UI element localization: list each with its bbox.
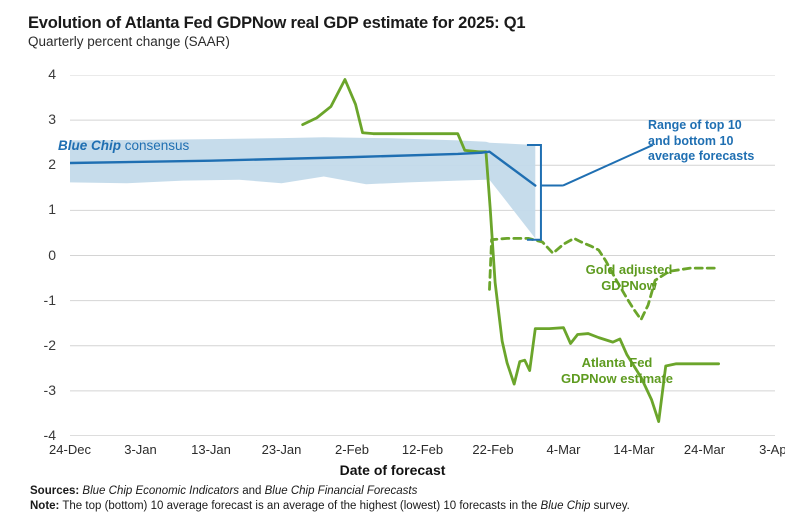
- note-line: Note: The top (bottom) 10 average foreca…: [30, 499, 770, 514]
- chart-page: Evolution of Atlanta Fed GDPNow real GDP…: [0, 0, 785, 531]
- x-axis-tick-label: 4-Mar: [547, 442, 581, 457]
- sources-pub-2: Blue Chip Financial Forecasts: [265, 485, 418, 497]
- bluechip-italic: Blue Chip: [58, 138, 121, 153]
- bluechip-rest: consensus: [121, 138, 189, 153]
- y-axis-tick-label: 2: [30, 156, 56, 172]
- y-axis-tick-label: 3: [30, 111, 56, 127]
- x-axis-tick-label: 24-Mar: [684, 442, 725, 457]
- sources-label: Sources:: [30, 485, 79, 497]
- footnotes: Sources: Blue Chip Economic Indicators a…: [30, 484, 770, 513]
- x-axis-tick-label: 2-Feb: [335, 442, 369, 457]
- y-axis-tick-label: 1: [30, 201, 56, 217]
- x-axis-tick-label: 13-Jan: [191, 442, 231, 457]
- range-callout-label: Range of top 10 and bottom 10 average fo…: [648, 118, 780, 165]
- y-axis-tick-label: -3: [30, 382, 56, 398]
- x-axis-tick-label: 22-Feb: [472, 442, 513, 457]
- x-axis-tick-label: 3-Apr: [759, 442, 785, 457]
- note-label: Note:: [30, 500, 59, 512]
- note-text-2: survey.: [590, 500, 629, 512]
- sources-mid: and: [239, 485, 265, 497]
- gold-adjusted-label: Gold adjusted GDPNow: [549, 262, 709, 294]
- page-title: Evolution of Atlanta Fed GDPNow real GDP…: [28, 14, 525, 33]
- y-axis-tick-label: -2: [30, 337, 56, 353]
- x-axis-tick-label: 23-Jan: [262, 442, 302, 457]
- x-axis-tick-label: 12-Feb: [402, 442, 443, 457]
- chart-subtitle: Quarterly percent change (SAAR): [28, 34, 230, 49]
- sources-line: Sources: Blue Chip Economic Indicators a…: [30, 484, 770, 499]
- atlanta-fed-label: Atlanta Fed GDPNow estimate: [527, 355, 707, 387]
- y-axis-tick-label: 0: [30, 247, 56, 263]
- x-axis-tick-label: 3-Jan: [124, 442, 157, 457]
- note-italic: Blue Chip: [541, 500, 591, 512]
- y-axis-tick-label: -1: [30, 292, 56, 308]
- bluechip-consensus-label: Blue Chip consensus: [58, 138, 189, 153]
- x-axis-tick-label: 24-Dec: [49, 442, 91, 457]
- y-axis-tick-label: 4: [30, 66, 56, 82]
- x-axis-title: Date of forecast: [0, 462, 785, 478]
- y-axis-tick-label: -4: [30, 427, 56, 443]
- note-text-1: The top (bottom) 10 average forecast is …: [59, 500, 540, 512]
- x-axis-tick-label: 14-Mar: [613, 442, 654, 457]
- sources-pub-1: Blue Chip Economic Indicators: [82, 485, 239, 497]
